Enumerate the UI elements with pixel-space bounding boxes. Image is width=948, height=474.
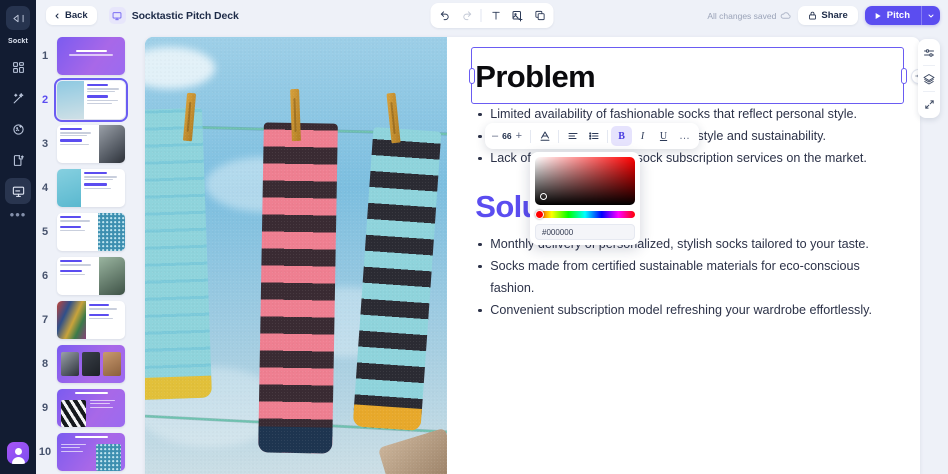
thumb-photo [61,352,79,376]
color-picker-popover[interactable]: #000000 [530,152,640,245]
thumb-line [61,447,80,448]
left-nav-rail: Sockt ••• [0,0,36,474]
thumb-line [84,179,113,180]
sidebar-item-dashboard[interactable] [5,54,31,80]
thumb-line [61,451,83,452]
more-label: … [679,133,690,139]
slide-canvas[interactable]: Problem Limited availability of fashiona… [141,31,948,474]
thumb-panel [57,125,99,163]
thumbnail-number: 1 [38,50,52,62]
thumb-line [61,444,86,445]
thumb-layout [57,444,125,471]
save-status: All changes saved [707,10,791,21]
thumb-layout [57,345,125,383]
thumbnail-number: 5 [38,226,52,238]
format-divider [558,130,559,143]
thumb-title-bar [89,304,109,306]
add-image-button[interactable] [507,5,529,26]
thumbnail-item[interactable]: 10 [36,433,141,471]
chevron-down-icon [927,12,935,20]
duplicate-button[interactable] [529,5,551,26]
play-icon [874,12,882,20]
thumb-line [84,188,110,189]
thumb-title-bar [60,226,81,228]
pitch-button-group: Pitch [865,6,940,25]
thumb-panel [61,444,92,471]
align-button[interactable] [562,126,583,146]
sidebar-item-presentations[interactable] [5,178,31,204]
thumbnail-preview[interactable] [57,301,125,339]
thumb-layout [57,169,125,207]
thumbnail-item[interactable]: 8 [36,345,141,383]
thumb-panel [57,389,125,394]
image-plus-icon [512,10,524,22]
thumb-title-bar [84,172,107,174]
text-color-icon [539,130,551,142]
font-size-stepper[interactable]: – 66 + [489,131,527,142]
thumbnail-number: 2 [38,94,52,106]
color-selector-handle[interactable] [540,193,547,200]
font-size-increase[interactable]: + [516,131,522,142]
solution-bullet-list[interactable]: Monthly delivery of personalized, stylis… [475,233,898,321]
bullet-list-icon [588,130,600,142]
thumb-line [60,135,87,136]
back-label: Back [65,10,88,21]
thumb-title-bar [76,50,107,52]
presentation-icon [109,7,126,24]
hue-slider-handle[interactable] [535,210,544,219]
thumb-line [60,274,85,275]
thumb-layout [57,213,125,251]
thumbnail-item[interactable]: 9 [36,389,141,427]
sliders-icon [923,47,935,59]
thumbnail-preview[interactable] [57,169,125,207]
thumbnail-item[interactable]: 7 [36,301,141,339]
underline-label: U [660,131,667,142]
thumb-layout [57,257,125,295]
avatar-glyph [7,442,29,464]
thumb-line [69,54,112,55]
thumbnail-number: 4 [38,182,52,194]
thumbnail-item-selected[interactable]: 2 [36,81,141,119]
italic-button[interactable]: I [632,126,653,146]
thumb-line [60,132,91,133]
expand-button[interactable] [920,95,938,114]
thumb-panel [81,169,125,207]
thumb-line [90,407,113,408]
layers-icon [923,73,935,85]
format-divider [530,130,531,143]
resize-handle-right[interactable] [901,68,907,84]
thumb-photo [57,301,86,339]
list-item[interactable]: Convenient subscription model refreshing… [475,299,898,321]
thumb-title-bar [60,260,82,262]
thumb-line [87,100,118,101]
more-format-button[interactable]: … [674,126,695,146]
thumb-line [60,220,90,221]
sidebar-more-icon[interactable]: ••• [10,211,27,219]
thumbnail-number: 7 [38,314,52,326]
page-title: Socktastic Pitch Deck [132,10,239,22]
thumbnail-number: 3 [38,138,52,150]
thumbnail-item[interactable]: 6 [36,257,141,295]
thumb-photo [96,444,121,471]
thumbnail-preview[interactable] [57,257,125,295]
text-color-button[interactable] [534,126,555,146]
thumb-title-bar [89,314,109,316]
panel-divider [923,91,935,92]
layers-button[interactable] [920,69,938,88]
thumb-line [60,230,85,231]
canvas-tool-group [431,3,554,28]
list-item[interactable]: Socks made from certified sustainable ma… [475,255,898,299]
text-icon [490,10,501,21]
thumb-photo [61,400,86,427]
slide-surface[interactable]: Problem Limited availability of fashiona… [145,37,920,474]
thumb-photo [103,352,121,376]
thumb-line [60,144,89,145]
thumbnail-preview[interactable] [57,213,125,251]
thumb-layout [57,125,125,163]
avatar-body [12,457,25,464]
thumb-title-bar [60,139,82,141]
thumbnail-preview[interactable] [57,433,125,471]
main-region: Back Socktastic Pitch Deck [36,0,948,474]
thumbnail-number: 9 [38,402,52,414]
copy-icon [534,10,545,21]
thumb-panel [84,81,125,119]
thumbnail-item[interactable]: 4 [36,169,141,207]
thumbnail-number: 6 [38,270,52,282]
expand-arrows-icon [924,99,935,110]
panel-divider [923,65,935,66]
sidebar-item-documents[interactable] [5,147,31,173]
pitch-label: Pitch [887,10,910,21]
thumb-photo [82,352,100,376]
thumb-line [90,400,115,401]
thumb-title-bar [75,392,108,394]
list-button[interactable] [583,126,604,146]
slide-thumbnail-list[interactable]: 1 2 [36,31,141,474]
add-text-button[interactable] [485,5,507,26]
right-tool-panel [918,39,940,118]
thumb-panel [86,301,125,339]
hex-input[interactable]: #000000 [535,224,635,240]
app-root: Sockt ••• Back [0,0,948,474]
hex-value: #000000 [542,228,573,237]
thumbnail-preview[interactable] [57,389,125,427]
thumbnail-preview[interactable] [57,125,125,163]
top-toolbar: Back Socktastic Pitch Deck [36,0,948,31]
save-status-label: All changes saved [707,11,776,21]
slide-photo[interactable] [145,37,447,474]
thumb-layout [57,301,125,339]
thumb-line [87,91,115,92]
thumbnail-item[interactable]: 3 [36,125,141,163]
chevron-left-icon [53,12,61,20]
thumb-panel [57,37,125,75]
rail-brand-label: Sockt [1,38,35,45]
thumb-photo [57,169,81,207]
thumb-photo [98,213,125,251]
thumb-title-bar [87,95,108,97]
back-button[interactable]: Back [46,6,97,25]
resize-handle-left[interactable] [469,68,475,84]
share-label: Share [821,10,847,21]
thumb-title-bar [84,183,107,185]
italic-label: I [641,131,644,142]
hue-slider[interactable] [535,211,635,218]
thumbnail-item[interactable]: 1 [36,37,141,75]
thumbnail-preview[interactable] [57,37,125,75]
redo-icon [461,10,472,21]
bold-label: B [618,131,625,142]
thumb-line [90,403,110,404]
problem-title[interactable]: Problem [475,61,898,92]
align-left-icon [567,130,579,142]
format-divider [607,130,608,143]
thumb-layout [57,37,125,75]
thumbnail-number: 10 [38,446,52,458]
thumb-title-bar [87,84,108,86]
font-size-value[interactable]: 66 [502,131,511,141]
undo-button[interactable] [434,5,456,26]
list-item[interactable]: Limited availability of fashionable sock… [475,103,898,125]
thumbnail-item[interactable]: 5 [36,213,141,251]
thumb-title-bar [60,216,81,218]
pitch-dropdown-button[interactable] [921,6,940,25]
undo-icon [439,10,450,21]
underline-button[interactable]: U [653,126,674,146]
pitch-button[interactable]: Pitch [865,6,921,25]
sidebar-item-image-ai[interactable] [5,116,31,142]
thumb-text [57,37,125,59]
thumb-title-bar [60,128,82,130]
sidebar-item-magic-wand[interactable] [5,85,31,111]
thumb-line [87,103,111,104]
thumb-line [89,308,117,309]
thumb-line [89,318,113,319]
share-button[interactable]: Share [798,6,857,25]
user-avatar[interactable] [7,442,29,464]
thumb-photo [57,81,84,119]
thumb-photo [99,257,125,295]
thumb-panel [57,213,98,251]
toolbar-divider [481,9,482,22]
thumb-line [84,176,117,177]
text-format-toolbar[interactable]: – 66 + B I U … [485,123,699,149]
film-grain-overlay [145,37,447,474]
lock-icon [808,11,817,20]
thumb-panel [57,433,125,438]
cloud-check-icon [780,10,791,21]
slide-text-panel[interactable]: Problem Limited availability of fashiona… [447,37,920,474]
thumb-panel [90,400,121,427]
collapse-panel-icon[interactable] [6,6,30,30]
thumb-layout [57,81,125,119]
settings-sliders-button[interactable] [920,43,938,62]
redo-button[interactable] [456,5,478,26]
top-right-actions: All changes saved Share Pitch [707,6,940,25]
thumb-layout [57,400,125,427]
font-size-decrease[interactable]: – [492,131,498,142]
thumb-title-bar [60,270,82,272]
editor-body: 1 2 [36,31,948,474]
thumb-line [87,88,118,89]
thumbnail-number: 8 [38,358,52,370]
problem-heading-box[interactable]: Problem [475,61,898,92]
thumbnail-preview[interactable] [57,345,125,383]
thumb-photo [99,125,125,163]
avatar-head [15,448,22,455]
thumb-title-bar [75,436,108,438]
thumbnail-preview[interactable] [57,81,125,119]
saturation-value-area[interactable] [535,157,635,205]
thumb-panel [57,257,99,295]
bold-button[interactable]: B [611,126,632,146]
thumb-line [60,264,91,265]
